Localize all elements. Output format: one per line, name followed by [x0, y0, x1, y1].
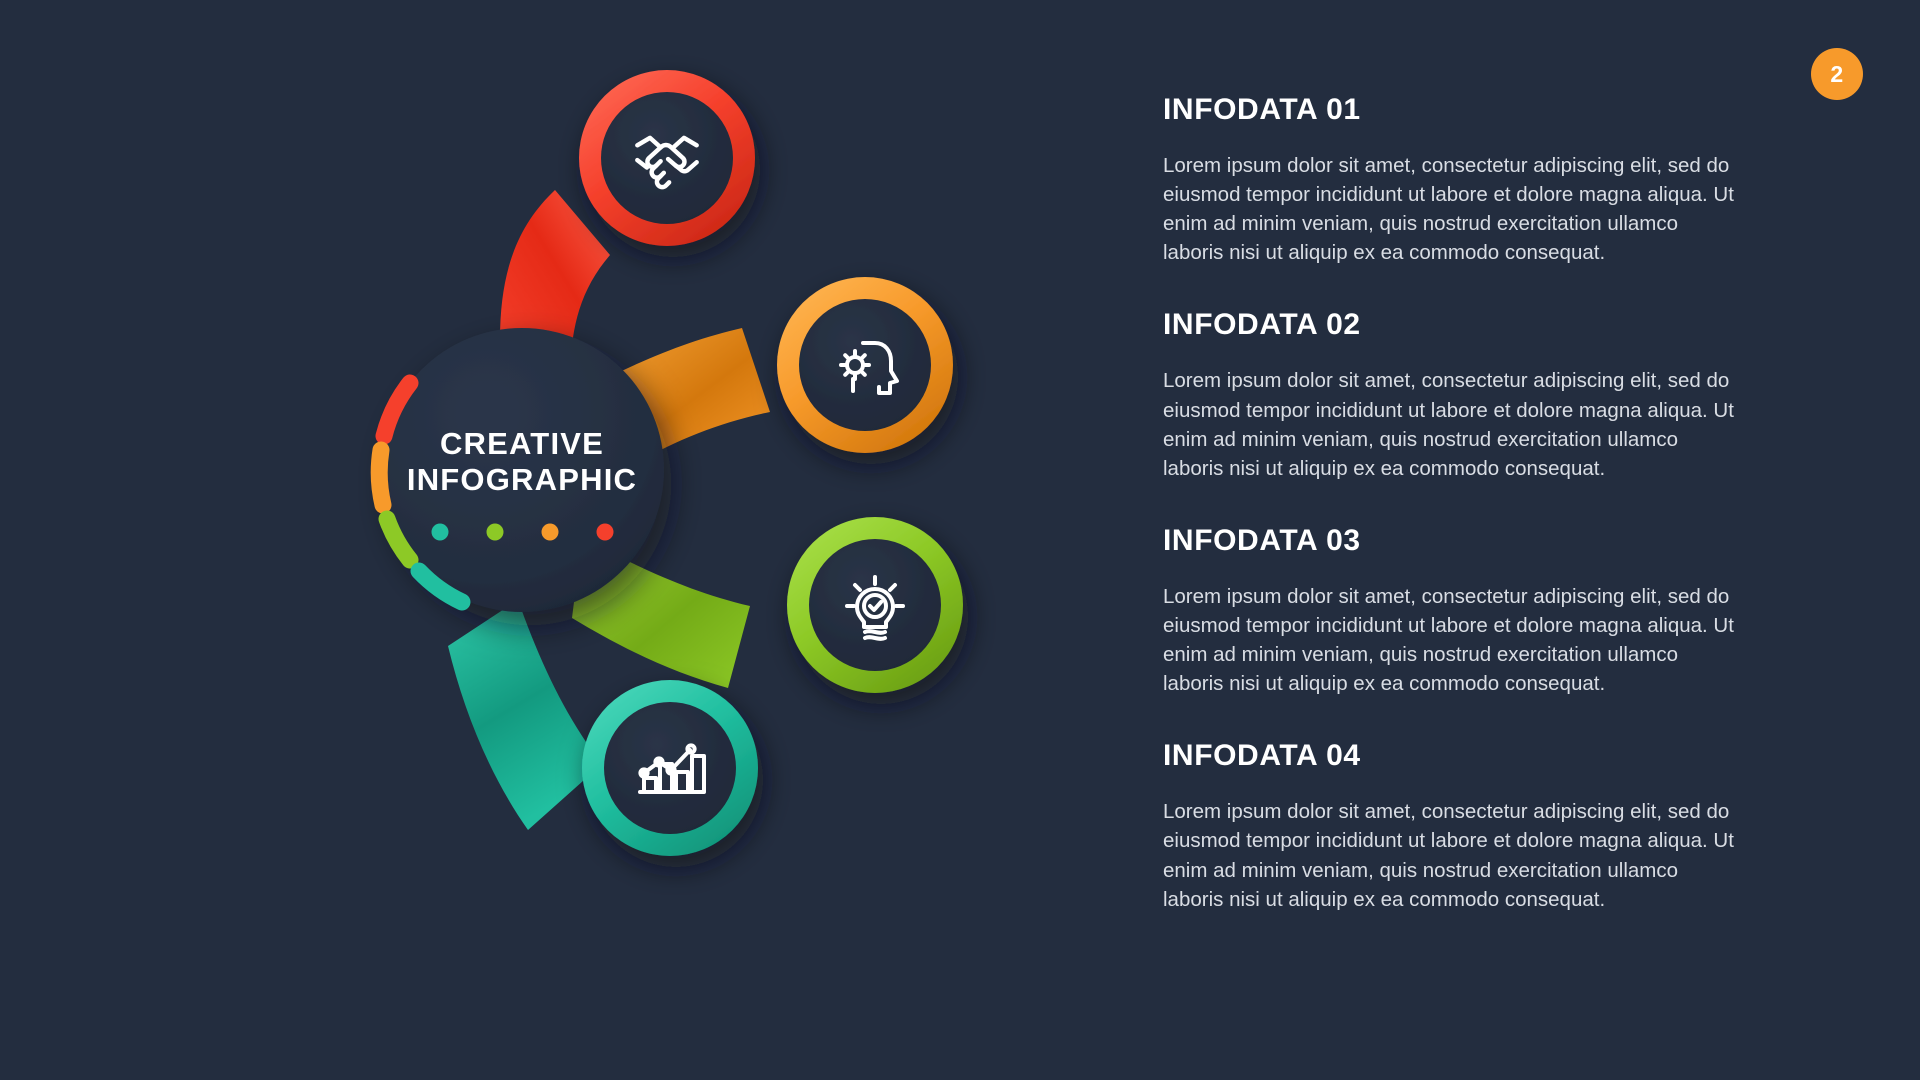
dot-green — [487, 524, 504, 541]
dot-orange — [542, 524, 559, 541]
connector-arm-04 — [448, 600, 602, 830]
info-block-04: INFODATA 04 Lorem ipsum dolor sit amet, … — [1163, 741, 1763, 913]
info-title-03: INFODATA 03 — [1163, 526, 1763, 556]
slide-canvas: 2 — [0, 0, 1920, 1080]
info-body-02: Lorem ipsum dolor sit amet, consectetur … — [1163, 366, 1743, 482]
dot-red — [597, 524, 614, 541]
info-block-03: INFODATA 03 Lorem ipsum dolor sit amet, … — [1163, 526, 1763, 698]
page-number-label: 2 — [1830, 61, 1843, 88]
info-body-03: Lorem ipsum dolor sit amet, consectetur … — [1163, 582, 1743, 698]
node-04[interactable] — [582, 680, 758, 856]
info-title-01: INFODATA 01 — [1163, 95, 1763, 125]
center-title-line2: INFOGRAPHIC — [407, 462, 637, 497]
infographic-diagram: CREATIVE INFOGRAPHIC — [250, 40, 1050, 1040]
hub-arc-orange — [379, 450, 383, 505]
info-block-02: INFODATA 02 Lorem ipsum dolor sit amet, … — [1163, 310, 1763, 482]
info-title-02: INFODATA 02 — [1163, 310, 1763, 340]
dot-teal — [432, 524, 449, 541]
info-body-01: Lorem ipsum dolor sit amet, consectetur … — [1163, 151, 1743, 267]
info-block-01: INFODATA 01 Lorem ipsum dolor sit amet, … — [1163, 95, 1763, 267]
node-02[interactable] — [777, 277, 953, 453]
info-blocks-column: INFODATA 01 Lorem ipsum dolor sit amet, … — [1163, 95, 1763, 914]
center-title-line1: CREATIVE — [440, 426, 604, 461]
node-01[interactable] — [579, 70, 755, 246]
info-title-04: INFODATA 04 — [1163, 741, 1763, 771]
node-03[interactable] — [787, 517, 963, 693]
page-number-badge: 2 — [1811, 48, 1863, 100]
info-body-04: Lorem ipsum dolor sit amet, consectetur … — [1163, 797, 1743, 913]
